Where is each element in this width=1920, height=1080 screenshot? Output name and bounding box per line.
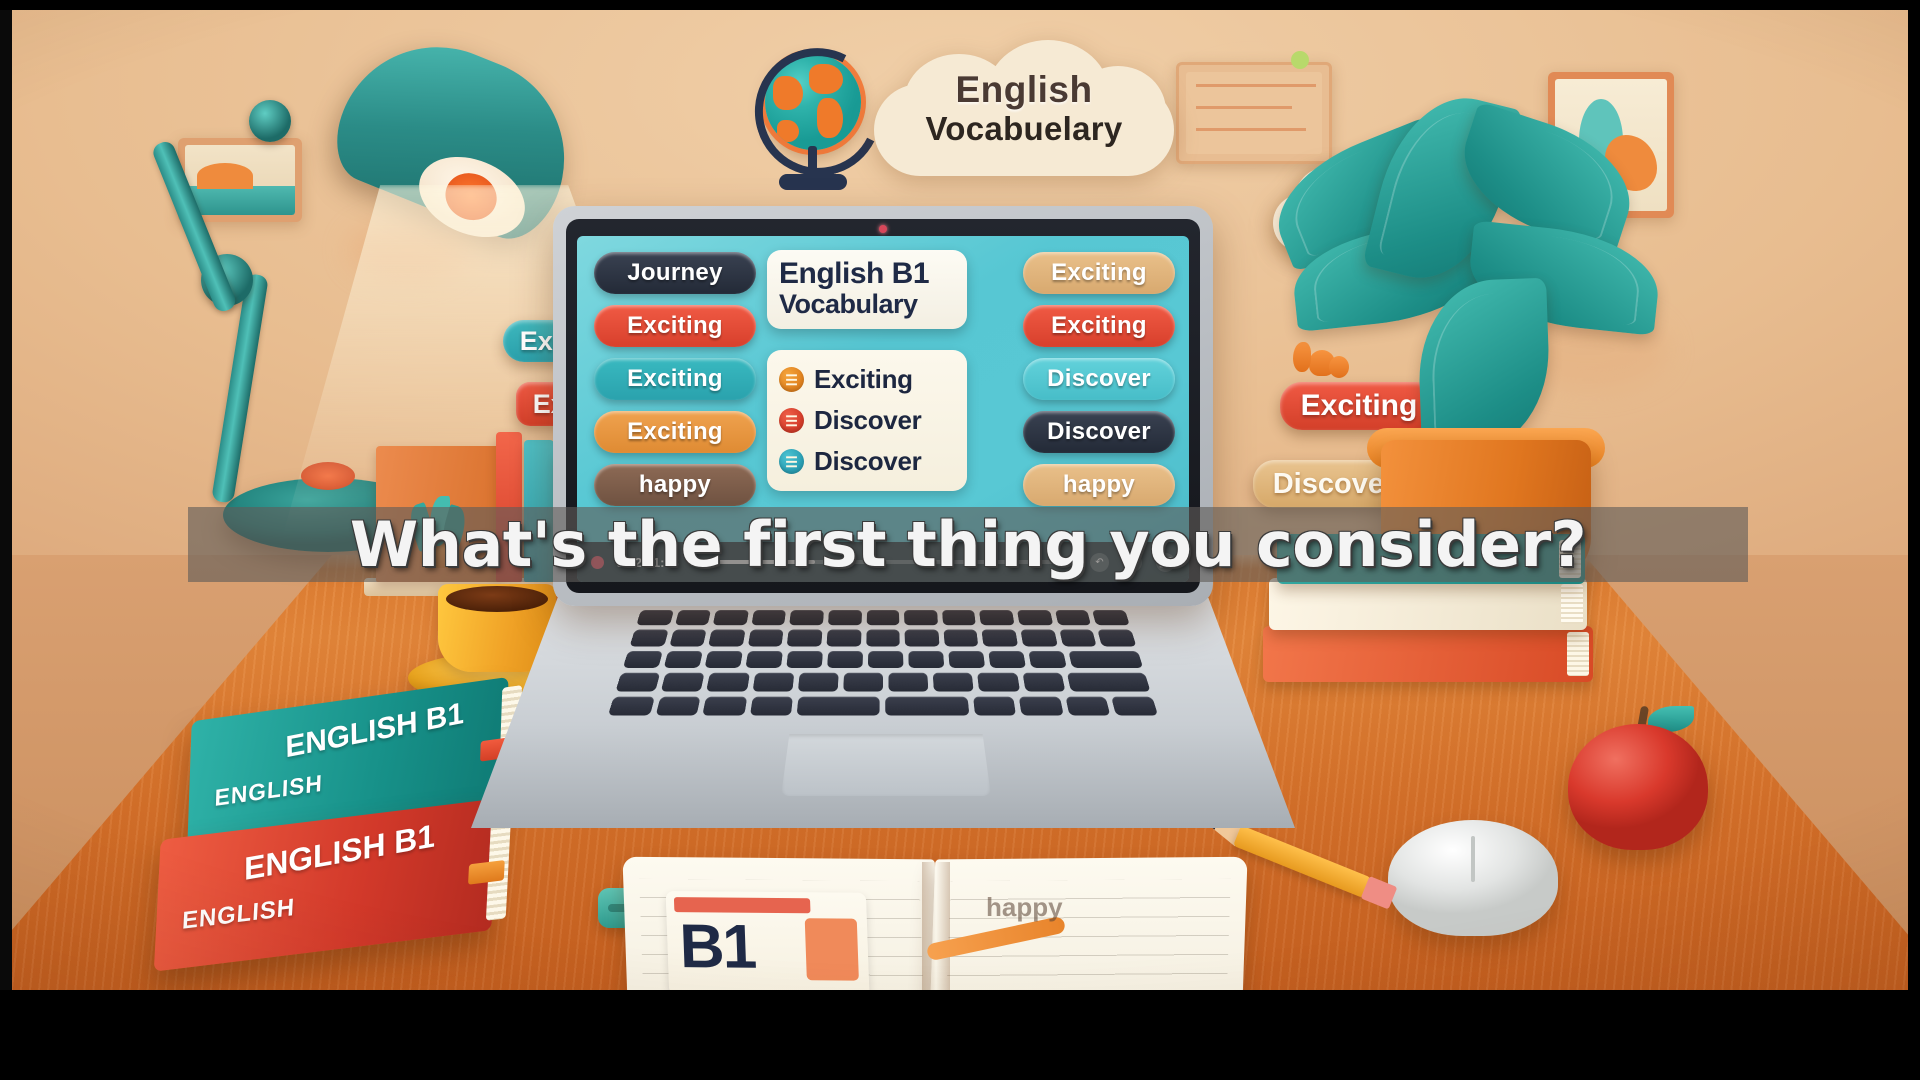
vocab-list-item[interactable]: ☰ Discover xyxy=(767,400,967,441)
globe xyxy=(753,48,873,198)
webcam-icon xyxy=(879,225,887,233)
letterbox-top xyxy=(0,0,1920,10)
screen-pill[interactable]: Exciting xyxy=(1023,252,1175,294)
screen-pill[interactable]: Discover xyxy=(1023,411,1175,453)
notebook-faded-word: happy xyxy=(986,892,1063,923)
english-vocabulary-cloud-label: English Vocabuelary xyxy=(874,40,1174,180)
cloud-label-line2: Vocabuelary xyxy=(925,108,1122,149)
screen-pill[interactable]: Exciting xyxy=(1023,305,1175,347)
notebook-spine xyxy=(922,862,950,990)
caption-text: What's the first thing you consider? xyxy=(350,508,1586,581)
screen-pill[interactable]: happy xyxy=(594,464,756,506)
notebook-level-badge: B1 xyxy=(678,911,756,983)
screen-pill[interactable]: Discover xyxy=(1023,358,1175,400)
screen-pill[interactable]: Exciting xyxy=(594,358,756,400)
book-icon: ☰ xyxy=(779,408,804,433)
screen-right-pill-column: Exciting Exciting Discover Discover happ… xyxy=(1023,252,1175,506)
screen-pill[interactable]: Journey xyxy=(594,252,756,294)
letterbox-bottom xyxy=(0,990,1920,1080)
screen-pill[interactable]: Exciting xyxy=(594,305,756,347)
notebook-right-page xyxy=(928,857,1247,990)
illustration-canvas: English Vocabuelary Excing Excing xyxy=(8,10,1908,990)
letterbox-right xyxy=(0,0,12,1080)
vocab-list-label: Discover xyxy=(814,446,921,477)
book-title-top: ENGLISH B1 xyxy=(285,697,464,766)
screen-pill[interactable]: happy xyxy=(1023,464,1175,506)
stacked-book xyxy=(1269,578,1587,630)
vocab-list-label: Discover xyxy=(814,405,921,436)
computer-mouse[interactable] xyxy=(1388,820,1558,936)
caption-overlay: What's the first thing you consider? xyxy=(188,507,1748,582)
notebook-level-card: B1 xyxy=(666,891,870,990)
screen-title-line2: Vocabulary xyxy=(779,290,955,318)
vocab-list-item[interactable]: ☰ Discover xyxy=(767,441,967,482)
book-spine-label: ENGLISH xyxy=(214,770,323,813)
screen-left-pill-column: Journey Exciting Exciting Exciting happy xyxy=(594,252,756,506)
laptop-trackpad[interactable] xyxy=(781,734,991,796)
notebook-left-page: B1 xyxy=(622,857,941,990)
screen-pill[interactable]: Exciting xyxy=(594,411,756,453)
screen-title-line1: English B1 xyxy=(779,259,955,290)
screen-title-card: English B1 Vocabulary xyxy=(767,250,967,329)
book-icon: ☰ xyxy=(779,449,804,474)
stacked-book xyxy=(1263,626,1593,682)
open-notebook: B1 happy happy xyxy=(626,858,1246,990)
red-apple xyxy=(1568,700,1708,850)
book-spine-label: ENGLISH xyxy=(181,894,295,936)
screen-vocab-list-card: ☰ Exciting ☰ Discover ☰ Discover xyxy=(767,350,967,491)
laptop-keyboard[interactable] xyxy=(608,610,1158,716)
book-title-top: ENGLISH B1 xyxy=(244,817,435,888)
vocab-list-label: Exciting xyxy=(814,364,913,395)
screenshot-stage: English Vocabuelary Excing Excing xyxy=(0,0,1920,1080)
cloud-label-line1: English xyxy=(955,71,1092,108)
vocab-list-item[interactable]: ☰ Exciting xyxy=(767,359,967,400)
book-icon: ☰ xyxy=(779,367,804,392)
